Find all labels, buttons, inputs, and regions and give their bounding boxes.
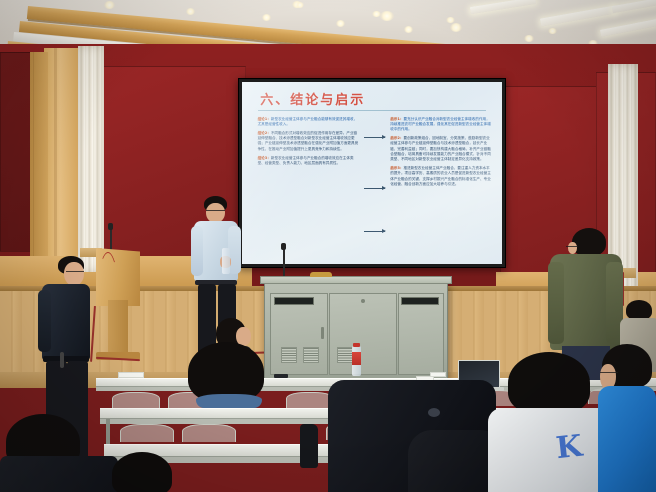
- presenter-glasses: [206, 210, 225, 212]
- ceiling-downlight: [104, 1, 115, 9]
- dark-shirt-face: [64, 262, 84, 286]
- cabinet-grill-right: [401, 297, 439, 305]
- slide-title: 六、结论与启示: [260, 89, 365, 108]
- cabinet-vent-center: [337, 347, 353, 363]
- blue-tee-glasses: [600, 372, 618, 374]
- water-bottle-label: [352, 352, 361, 365]
- ceiling-downlight: [446, 17, 455, 23]
- projection-screen: 六、结论与启示 结论1：新型农业经营主体参与产业融合能够有效促进其增收，尤其是经…: [238, 78, 506, 268]
- conclusion-3-text: 新型农业经营主体参与产业融合的增收效应在主体类型、经营类型、负责人能力、地区层面…: [258, 156, 354, 165]
- olive-jacket-ear: [568, 242, 577, 254]
- papers-on-desk: [430, 372, 446, 377]
- stage-curtain-left: [78, 46, 104, 272]
- chair: [112, 392, 160, 408]
- k-hoodie-hair: [508, 352, 590, 414]
- olive-jacket-hair: [572, 228, 606, 256]
- implication-block: 启示3：推进新型农业经营主体产业融合，要注重人力资本水平的提升。项目高学历、高素…: [390, 166, 491, 187]
- keychain: [60, 352, 64, 368]
- flow-arrow: [364, 231, 385, 232]
- person-far-left-front: [0, 412, 118, 492]
- ceiling-downlight: [296, 2, 304, 8]
- water-bottle-held: [222, 248, 230, 274]
- ceiling-downlight: [524, 35, 534, 42]
- implication-1-lead: 启示1：: [390, 117, 403, 121]
- ceiling-downlight: [404, 26, 413, 33]
- far-left-body: [0, 456, 118, 492]
- implication-2-text: 要创新政策组合，因地制宜、分类施策，鼓励新型农业经营主体参与产业链延伸型融合与技…: [390, 136, 491, 161]
- slide-left-column: 结论1：新型农业经营主体参与产业融合能够有效促进其增收，尤其是经营性收入。 结论…: [258, 117, 359, 171]
- conclusion-block: 结论2：不同融合形式对增收效应的促进作用存在差异。产业链延伸型融合、技术渗透型融…: [258, 131, 359, 152]
- denim-shirt-collar: [196, 394, 262, 408]
- conclusion-1-lead: 结论1：: [258, 117, 271, 121]
- conclusion-2-lead: 结论2：: [258, 131, 271, 135]
- papers-on-desk: [118, 372, 144, 378]
- cabinet-door-right: [398, 293, 444, 375]
- denim-hair: [188, 342, 264, 402]
- implication-3-text: 推进新型农业经营主体产业融合，要注重人力资本水平的提升。项目高学历、高素质的农业…: [390, 166, 491, 186]
- hoodie-letter-k: K: [554, 429, 584, 467]
- implication-3-lead: 启示3：: [390, 166, 403, 170]
- person-blue-tee: [598, 344, 656, 492]
- cabinet-top-handle: [310, 272, 332, 277]
- olive-jacket-arm-left: [548, 262, 564, 344]
- audience-leftmost-hair: [112, 452, 172, 492]
- water-bottle-cap: [353, 343, 360, 347]
- ceiling-downlight: [186, 8, 195, 15]
- person-audience-leftmost: [112, 452, 176, 492]
- dark-shirt-arm: [38, 290, 51, 352]
- jacket-button: [428, 408, 440, 417]
- implication-2-lead: 启示2：: [390, 136, 403, 140]
- bag-on-desk: [300, 424, 318, 468]
- slide-surface: 六、结论与启示 结论1：新型农业经营主体参与产业融合能够有效促进其增收，尤其是经…: [242, 82, 502, 264]
- conclusion-3-lead: 结论3：: [258, 156, 271, 160]
- implication-block: 启示2：要创新政策组合，因地制宜、分类施策，鼓励新型农业经营主体参与产业链延伸型…: [390, 136, 491, 162]
- conclusion-block: 结论1：新型农业经营主体参与产业融合能够有效促进其增收，尤其是经营性收入。: [258, 117, 359, 127]
- cabinet-lock: [361, 299, 365, 303]
- presenter-face: [206, 203, 225, 223]
- conclusion-block: 结论3：新型农业经营主体参与产业融合的增收效应在主体类型、经营类型、负责人能力、…: [258, 156, 359, 166]
- blue-tee-body: [598, 386, 656, 492]
- presenter-arm-left: [191, 226, 203, 276]
- ceiling-downlight: [548, 28, 557, 34]
- implication-1-text: 要充分认识产业融合对新型农业经营主体增收的作用，持续推进农村产业融合发展，强化其…: [390, 117, 491, 131]
- flow-arrow: [364, 137, 385, 138]
- ceiling-downlight: [336, 20, 345, 27]
- conclusion-2-text: 不同融合形式对增收效应的促进作用存在差异。产业链延伸型融合、技术渗透型融合对新型…: [258, 131, 359, 151]
- dark-shirt-glasses: [66, 271, 84, 273]
- cabinet-top-cap: [260, 276, 452, 284]
- microphone-stand: [110, 228, 112, 250]
- implication-block: 启示1：要充分认识产业融合对新型农业经营主体增收的作用，持续推进农村产业融合发展…: [390, 117, 491, 133]
- olive-jacket-glasses: [566, 246, 578, 248]
- flow-arrow: [364, 188, 385, 189]
- wall-wood-pillar: [30, 52, 48, 278]
- podium-stem: [108, 300, 128, 358]
- cabinet-grill-left: [274, 297, 314, 305]
- conclusion-1-text: 新型农业经营主体参与产业融合能够有效促进其增收，尤其是经营性收入。: [258, 117, 358, 126]
- ceiling-downlight: [450, 23, 462, 32]
- cabinet-handle: [321, 327, 324, 339]
- slide-right-column: 启示1：要充分认识产业融合对新型农业经营主体增收的作用，持续推进农村产业融合发展…: [390, 117, 491, 191]
- pale-shirt-hair: [626, 300, 652, 320]
- ceiling-downlight: [262, 14, 271, 21]
- person-denim-shirt: [160, 342, 326, 492]
- ceiling-downlight: [380, 11, 394, 21]
- slide-title-rule: [258, 110, 487, 111]
- lecture-hall-photo: 六、结论与启示 结论1：新型农业经营主体参与产业融合能够有效促进其增收，尤其是经…: [0, 0, 656, 492]
